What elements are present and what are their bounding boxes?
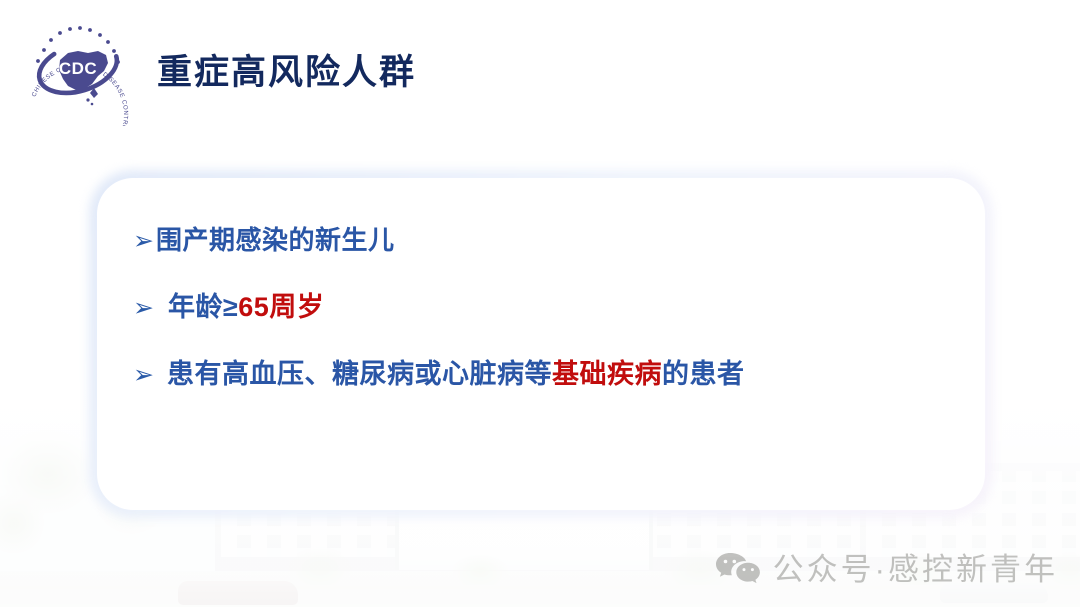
watermark-text: 公众号·感控新青年 (773, 554, 1058, 585)
bullet-list: ➢ 围产期感染的新生儿 ➢ 年龄≥65周岁 ➢ 患有高血压、糖尿病或心脏病等基础… (133, 226, 961, 390)
list-item: ➢ 年龄≥65周岁 (133, 292, 961, 323)
bullet-text: 年龄≥65周岁 (168, 292, 324, 323)
bullet-segment: 年龄≥ (168, 292, 238, 322)
chevron-bullet-icon: ➢ (133, 363, 154, 388)
wechat-icon (715, 551, 761, 587)
china-cdc-logo: CHINESE CENTER FOR DISEASE CONTROL AND P… (18, 10, 138, 126)
chevron-bullet-icon: ➢ (133, 229, 154, 254)
chevron-bullet-icon: ➢ (133, 296, 154, 321)
list-item: ➢ 患有高血压、糖尿病或心脏病等基础疾病的患者 (133, 359, 961, 390)
bullet-text: 围产期感染的新生儿 (156, 226, 395, 256)
slide: CHINESE CENTER FOR DISEASE CONTROL AND P… (0, 0, 1080, 607)
slide-header: CHINESE CENTER FOR DISEASE CONTROL AND P… (0, 0, 1080, 140)
bullet-segment: 围产期感染的新生儿 (156, 225, 395, 255)
content-card-wrapper: ➢ 围产期感染的新生儿 ➢ 年龄≥65周岁 ➢ 患有高血压、糖尿病或心脏病等基础… (97, 178, 985, 510)
bullet-segment: 的患者 (662, 359, 745, 389)
bullet-segment: 患有高血压、糖尿病或心脏病等 (167, 359, 552, 389)
bullet-segment-highlight: 65周岁 (238, 292, 324, 322)
backdrop-car-left (178, 581, 298, 605)
watermark: 公众号·感控新青年 (715, 551, 1058, 587)
content-card: ➢ 围产期感染的新生儿 ➢ 年龄≥65周岁 ➢ 患有高血压、糖尿病或心脏病等基础… (97, 178, 985, 510)
svg-text:CDC: CDC (59, 59, 97, 78)
list-item: ➢ 围产期感染的新生儿 (133, 226, 961, 256)
page-title: 重症高风险人群 (157, 55, 416, 90)
bullet-text: 患有高血压、糖尿病或心脏病等基础疾病的患者 (167, 359, 745, 390)
bullet-segment-highlight: 基础疾病 (552, 359, 662, 389)
